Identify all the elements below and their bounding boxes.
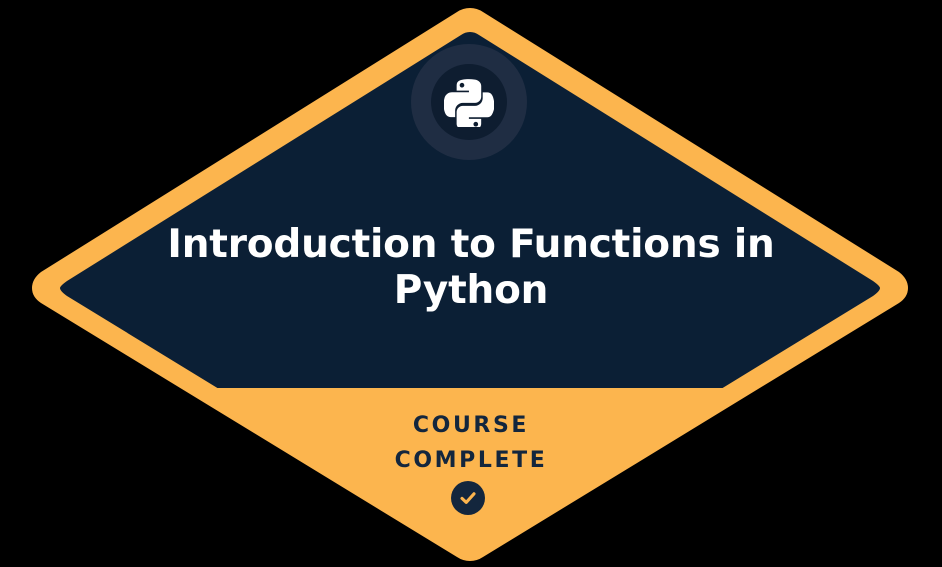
badge-diamond-shape bbox=[0, 0, 942, 567]
badge-stage: Introduction to Functions in Python COUR… bbox=[0, 0, 942, 567]
